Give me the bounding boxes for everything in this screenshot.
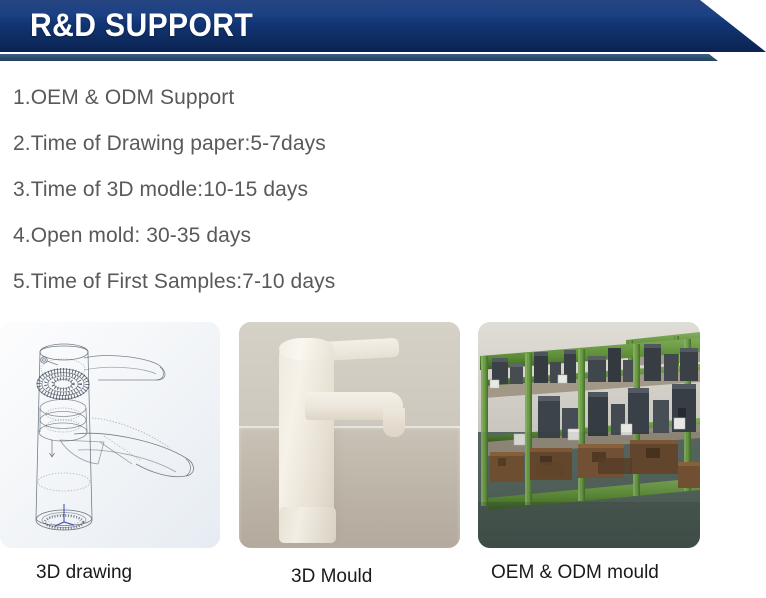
faucet-body-top — [279, 338, 334, 361]
banner-steel-bar — [0, 54, 766, 61]
list-item: 3.Time of 3D modle:10-15 days — [0, 166, 560, 212]
banner-divider-line — [0, 52, 766, 54]
rd-support-list: 1.OEM & ODM Support 2.Time of Drawing pa… — [0, 74, 560, 304]
list-item: 2.Time of Drawing paper:5-7days — [0, 120, 560, 166]
faucet-base — [279, 507, 336, 543]
photo-gallery — [0, 322, 766, 550]
caption-3d-drawing: 3D drawing — [36, 562, 132, 584]
caption-3d-mould: 3D Mould — [291, 566, 372, 588]
faucet-prototype-photo — [239, 322, 460, 548]
list-item: 4.Open mold: 30-35 days — [0, 212, 560, 258]
photo-3d-mould — [239, 322, 460, 548]
page-header-banner: R&D SUPPORT — [0, 0, 766, 62]
photo-3d-drawing — [0, 322, 220, 548]
faucet-spout-outlet — [383, 408, 405, 437]
faucet-body — [279, 340, 334, 534]
caption-oem-odm-mould: OEM & ODM mould — [491, 562, 659, 584]
warehouse-shelving-photo — [478, 322, 700, 548]
list-item: 1.OEM & ODM Support — [0, 74, 560, 120]
page-title: R&D SUPPORT — [30, 7, 253, 44]
photo-oem-odm-mould — [478, 322, 700, 548]
cad-wireframe-icon — [0, 322, 220, 548]
photo-counter-surface — [239, 426, 460, 548]
list-item: 5.Time of First Samples:7-10 days — [0, 258, 560, 304]
